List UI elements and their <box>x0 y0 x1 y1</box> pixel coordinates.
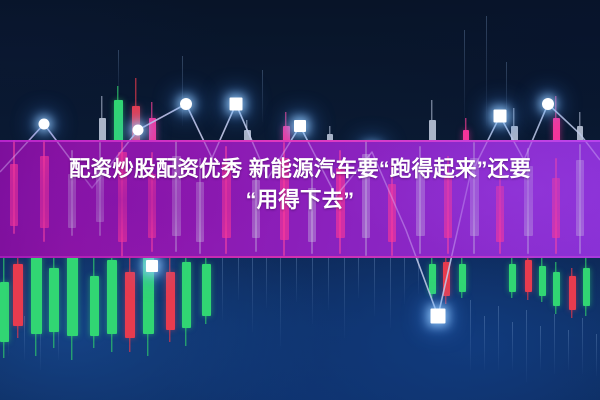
data-point-dot-marker <box>39 119 50 130</box>
headline-line-2: “用得下去” <box>246 188 355 212</box>
data-point-square-marker <box>294 120 306 132</box>
banner-top-edge <box>0 140 600 142</box>
banner-bottom-edge <box>0 256 600 258</box>
data-point-dot-marker <box>133 125 144 136</box>
data-point-square-marker <box>230 98 243 111</box>
thumbnail-image: 配资炒股配资优秀 新能源汽车要“跑得起来”还要 “用得下去” <box>0 0 600 400</box>
headline-text: 配资炒股配资优秀 新能源汽车要“跑得起来”还要 “用得下去” <box>0 154 600 215</box>
data-point-square-marker <box>494 110 507 123</box>
headline-line-1: 配资炒股配资优秀 新能源汽车要“跑得起来”还要 <box>69 157 531 181</box>
data-point-square-marker <box>431 309 446 324</box>
data-point-square-marker <box>146 260 158 272</box>
data-point-dot-marker <box>542 98 554 110</box>
data-point-dot-marker <box>180 98 192 110</box>
